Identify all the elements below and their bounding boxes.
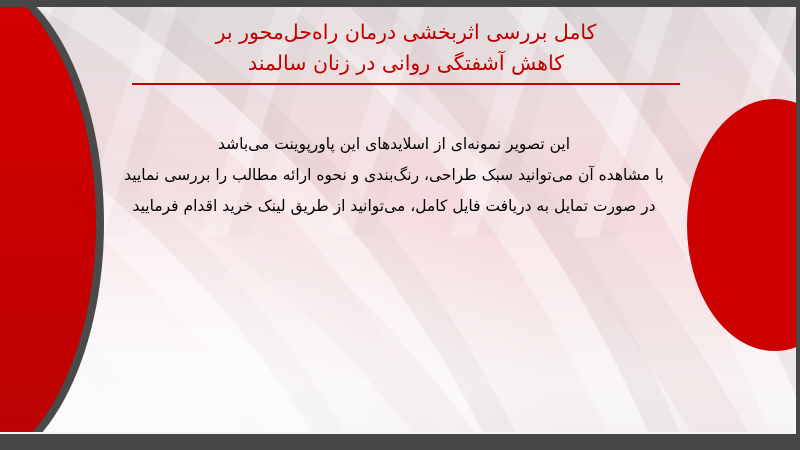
slide-canvas: کامل بررسی اثربخشی درمان راه‌حل‌محور بر … [0,7,800,434]
slide-frame-top [0,0,800,7]
presentation-slide: کامل بررسی اثربخشی درمان راه‌حل‌محور بر … [0,0,800,450]
body-text-line-2: با مشاهده آن می‌توانید سبک طراحی، رنگ‌بن… [96,160,692,191]
body-text-line-1: این تصویر نمونه‌ای از اسلایدهای این پاور… [96,129,692,160]
slide-body-text: این تصویر نمونه‌ای از اسلایدهای این پاور… [96,129,692,222]
slide-frame-bottom [0,434,800,450]
body-text-line-3: در صورت تمایل به دریافت فایل کامل، می‌تو… [96,191,692,222]
slide-title-line-2: کاهش آشفتگی روانی در زنان سالمند [248,51,564,75]
title-underline [132,83,680,85]
slide-frame-right [796,0,800,450]
slide-title-line-1: کامل بررسی اثربخشی درمان راه‌حل‌محور بر [216,20,597,44]
slide-title: کامل بررسی اثربخشی درمان راه‌حل‌محور بر … [130,17,682,79]
